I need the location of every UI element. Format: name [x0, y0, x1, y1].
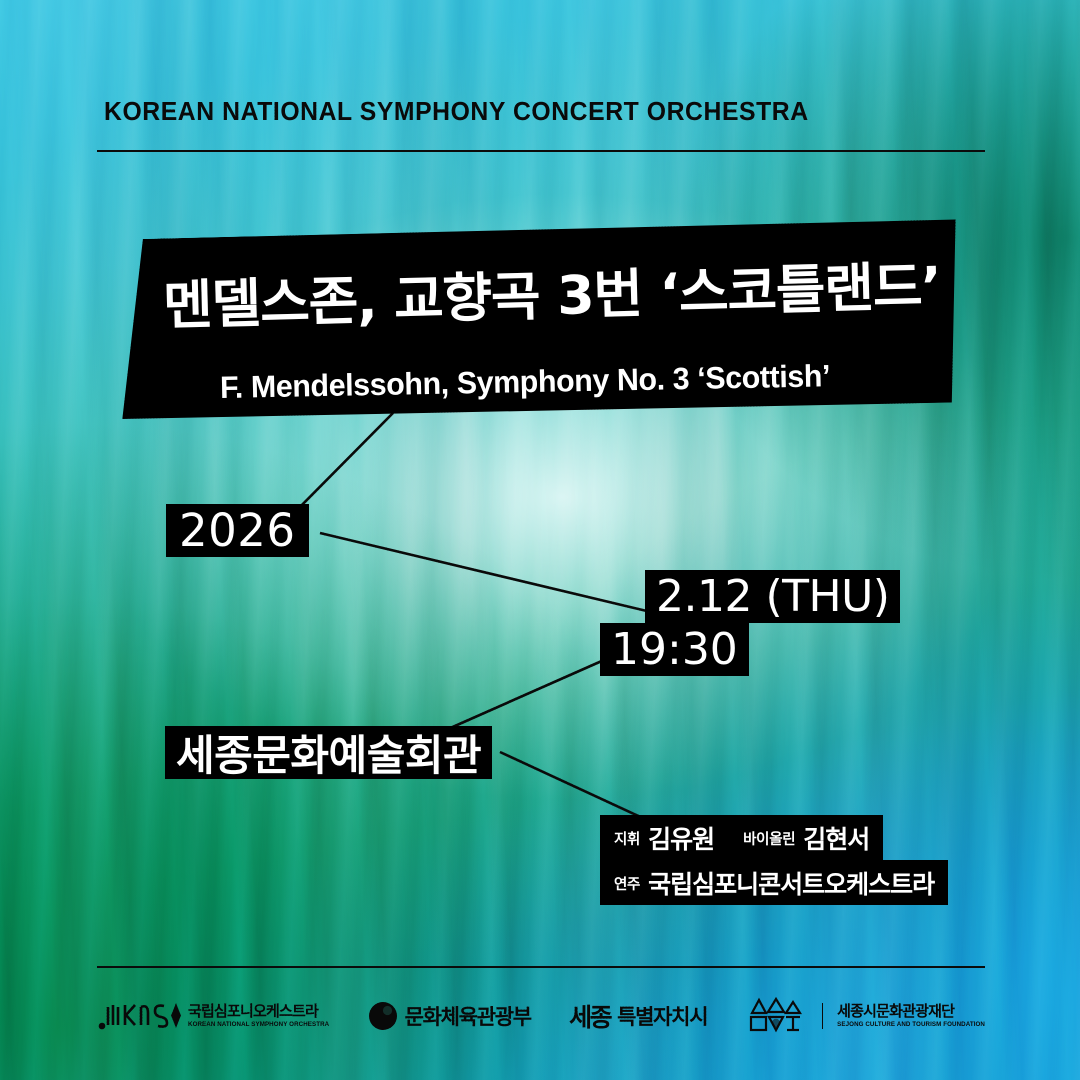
footer-divider-rule: [97, 966, 985, 968]
knso-text-block: 국립심포니오케스트라 KOREAN NATIONAL SYMPHONY ORCH…: [188, 1004, 329, 1028]
knso-name-en: KOREAN NATIONAL SYMPHONY ORCHESTRA: [188, 1022, 329, 1028]
background-grain-texture: [0, 0, 1080, 1080]
logo-separator-bar: [822, 1003, 824, 1029]
logo-knso: 국립심포니오케스트라 KOREAN NATIONAL SYMPHONY ORCH…: [97, 999, 329, 1033]
orchestra-name-header: KOREAN NATIONAL SYMPHONY CONCERT ORCHEST…: [104, 98, 809, 127]
sejong-wordmark-icon: 세종: [569, 998, 610, 1034]
credit-label-violin: 바이올린: [743, 828, 795, 849]
venue-chip: 세종문화예술회관: [165, 726, 492, 779]
knso-star-icon: [171, 1003, 181, 1028]
knso-logo-icon: [97, 999, 181, 1033]
credit-name-conductor: 김유원: [648, 820, 714, 856]
header-divider-rule: [97, 150, 985, 152]
time-chip: 19:30: [600, 623, 749, 676]
logo-sejong-foundation: 세종시문화관광재단 SEJONG CULTURE AND TOURISM FOU…: [746, 996, 985, 1036]
credit-label-ensemble: 연주: [614, 873, 640, 894]
sejong-foundation-name-en: SEJONG CULTURE AND TOURISM FOUNDATION: [837, 1022, 985, 1028]
sejong-city-name-kr: 특별자치시: [617, 1001, 707, 1031]
taegeuk-icon: [368, 1001, 398, 1031]
sejong-foundation-text-block: 세종시문화관광재단 SEJONG CULTURE AND TOURISM FOU…: [837, 1004, 985, 1028]
credit-row-conductor-soloist: 지휘 김유원 바이올린 김현서: [600, 815, 883, 860]
credit-name-ensemble: 국립심포니콘서트오케스트라: [648, 865, 934, 901]
concert-poster: KOREAN NATIONAL SYMPHONY CONCERT ORCHEST…: [0, 0, 1080, 1080]
knso-name-kr: 국립심포니오케스트라: [188, 1004, 329, 1019]
credit-row-ensemble: 연주 국립심포니콘서트오케스트라: [600, 860, 948, 905]
sejong-foundation-icon: [746, 996, 808, 1036]
year-chip: 2026: [166, 504, 309, 557]
date-chip: 2.12 (THU): [645, 570, 900, 623]
mcst-name-kr: 문화체육관광부: [405, 1001, 531, 1031]
footer-logo-bar: 국립심포니오케스트라 KOREAN NATIONAL SYMPHONY ORCH…: [97, 985, 985, 1047]
credit-label-conductor: 지휘: [614, 828, 640, 849]
logo-mcst: 문화체육관광부: [368, 1001, 531, 1031]
logo-sejong-city: 세종 특별자치시: [569, 998, 707, 1034]
credit-name-violin: 김현서: [803, 820, 869, 856]
sejong-foundation-name-kr: 세종시문화관광재단: [837, 1004, 985, 1019]
